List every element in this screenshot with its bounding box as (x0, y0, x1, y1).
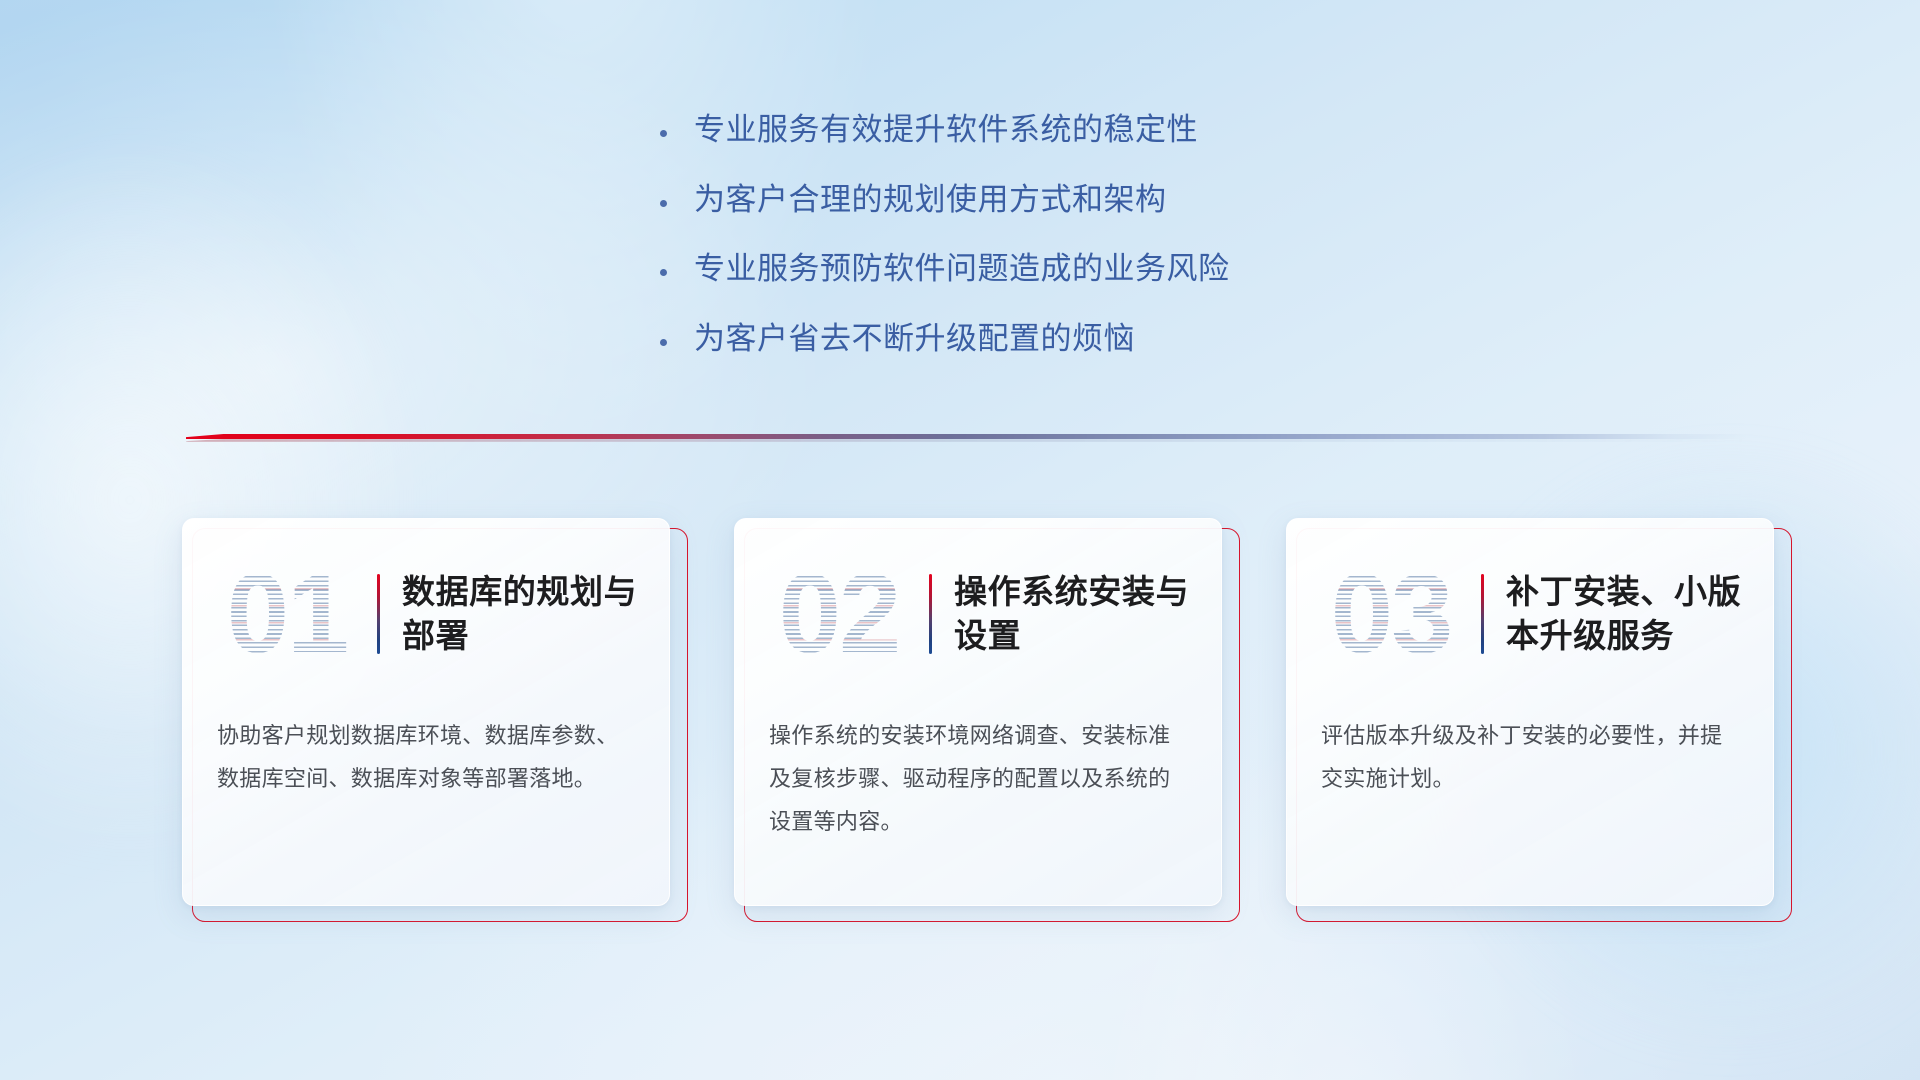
benefit-text: 为客户合理的规划使用方式和架构 (694, 180, 1167, 220)
card-number-watermark: 03 (1305, 554, 1477, 674)
card-title: 数据库的规划与部署 (402, 570, 669, 658)
bullet-dot-icon (660, 254, 694, 280)
card-surface: 03 补丁安装、小版本升级服务 评估版本升级及补丁安装的必要性，并提交实施计划。 (1286, 518, 1774, 906)
card-description: 评估版本升级及补丁安装的必要性，并提交实施计划。 (1287, 709, 1773, 801)
card-number-watermark: 01 (201, 554, 373, 674)
benefit-text: 为客户省去不断升级配置的烦恼 (694, 319, 1135, 359)
benefit-text: 专业服务有效提升软件系统的稳定性 (694, 110, 1198, 150)
service-card[interactable]: 03 补丁安装、小版本升级服务 评估版本升级及补丁安装的必要性，并提交实施计划。 (1286, 518, 1782, 912)
service-card-list: 01 数据库的规划与部署 协助客户规划数据库环境、数据库参数、数据库空间、数据库… (182, 518, 1782, 912)
card-title-rule (929, 574, 932, 654)
card-header: 03 补丁安装、小版本升级服务 (1287, 519, 1773, 709)
benefits-list: 专业服务有效提升软件系统的稳定性 为客户合理的规划使用方式和架构 专业服务预防软… (660, 110, 1480, 389)
list-item: 专业服务预防软件问题造成的业务风险 (660, 249, 1480, 289)
card-description: 操作系统的安装环境网络调查、安装标准及复核步骤、驱动程序的配置以及系统的设置等内… (735, 709, 1221, 844)
card-header: 01 数据库的规划与部署 (183, 519, 669, 709)
service-card[interactable]: 01 数据库的规划与部署 协助客户规划数据库环境、数据库参数、数据库空间、数据库… (182, 518, 678, 912)
list-item: 为客户省去不断升级配置的烦恼 (660, 319, 1480, 359)
card-number-watermark: 02 (753, 554, 925, 674)
benefit-text: 专业服务预防软件问题造成的业务风险 (694, 249, 1230, 289)
divider-line (186, 434, 1746, 439)
card-surface: 01 数据库的规划与部署 协助客户规划数据库环境、数据库参数、数据库空间、数据库… (182, 518, 670, 906)
bullet-dot-icon (660, 115, 694, 141)
section-divider (186, 428, 1746, 446)
service-card[interactable]: 02 操作系统安装与设置 操作系统的安装环境网络调查、安装标准及复核步骤、驱动程… (734, 518, 1230, 912)
card-title: 操作系统安装与设置 (954, 570, 1221, 658)
slide-canvas: 专业服务有效提升软件系统的稳定性 为客户合理的规划使用方式和架构 专业服务预防软… (0, 0, 1920, 1080)
card-title: 补丁安装、小版本升级服务 (1506, 570, 1773, 658)
list-item: 专业服务有效提升软件系统的稳定性 (660, 110, 1480, 150)
card-surface: 02 操作系统安装与设置 操作系统的安装环境网络调查、安装标准及复核步骤、驱动程… (734, 518, 1222, 906)
divider-shadow (186, 439, 1746, 442)
card-title-rule (377, 574, 380, 654)
bullet-dot-icon (660, 185, 694, 211)
card-header: 02 操作系统安装与设置 (735, 519, 1221, 709)
list-item: 为客户合理的规划使用方式和架构 (660, 180, 1480, 220)
bullet-dot-icon (660, 324, 694, 350)
card-title-rule (1481, 574, 1484, 654)
card-description: 协助客户规划数据库环境、数据库参数、数据库空间、数据库对象等部署落地。 (183, 709, 669, 801)
